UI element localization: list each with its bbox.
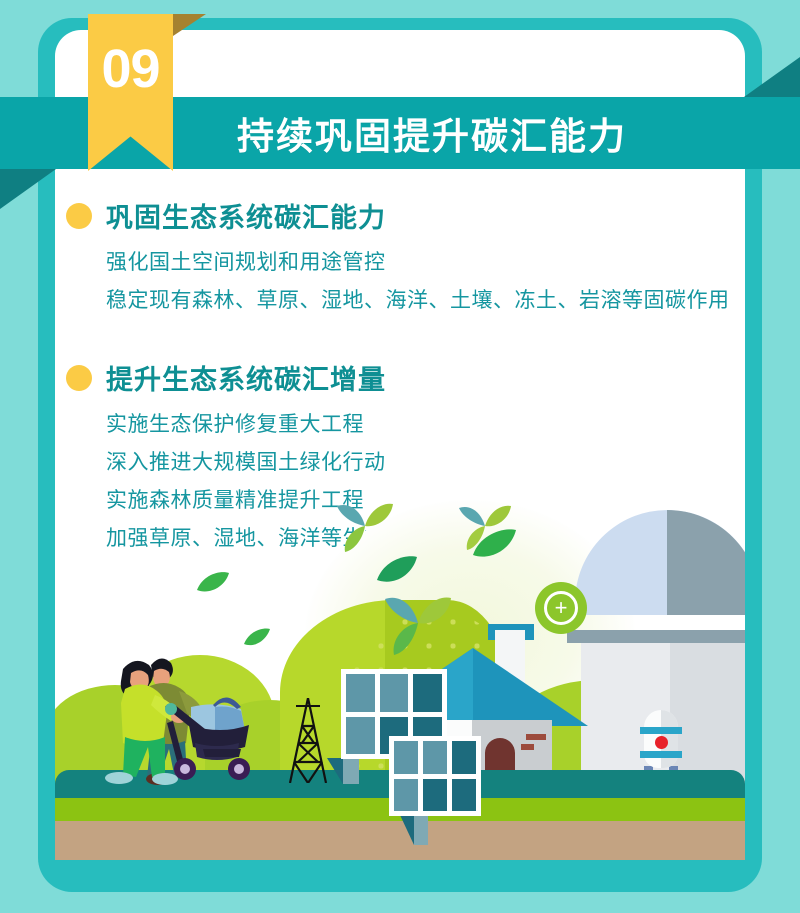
leaf-icon — [195, 570, 231, 596]
transmission-pylon-icon — [280, 698, 336, 783]
solar-cell — [346, 717, 375, 755]
solar-cell — [394, 779, 418, 812]
observatory-dome-shade — [667, 510, 745, 615]
solar-cell — [452, 741, 476, 774]
solar-cell — [380, 674, 409, 712]
solar-cell — [413, 674, 442, 712]
brick-detail — [521, 744, 534, 750]
pinwheel-leaf-icon — [333, 498, 399, 554]
eco-plus-badge: + — [535, 582, 587, 634]
solar-cell — [423, 741, 447, 774]
observatory-band — [567, 630, 745, 643]
section-1-heading-row: 巩固生态系统碳汇能力 — [66, 196, 730, 235]
solar-pole — [343, 758, 359, 784]
section-2-line-1: 实施生态保护修复重大工程 — [106, 406, 536, 444]
section-block-1: 巩固生态系统碳汇能力 强化国土空间规划和用途管控 稳定现有森林、草原、湿地、海洋… — [66, 196, 730, 320]
brick-detail — [526, 734, 546, 740]
section-1-heading: 巩固生态系统碳汇能力 — [106, 196, 386, 235]
solar-panel-small — [389, 736, 481, 816]
rocket-stripe — [640, 751, 682, 758]
solar-cell — [423, 779, 447, 812]
bullet-dot-icon — [66, 365, 92, 391]
section-1-line-1: 强化国土空间规划和用途管控 — [106, 244, 730, 282]
section-number: 09 — [88, 14, 173, 124]
section-1-lines: 强化国土空间规划和用途管控 稳定现有森林、草原、湿地、海洋、土壤、冻土、岩溶等固… — [106, 244, 730, 320]
solar-cell — [346, 674, 375, 712]
solar-cell — [452, 779, 476, 812]
bullet-dot-icon — [66, 203, 92, 229]
rocket-stripe — [640, 727, 682, 734]
plus-icon: + — [544, 591, 578, 625]
solar-cell — [394, 741, 418, 774]
eco-illustration: + — [55, 470, 745, 860]
section-1-line-2: 稳定现有森林、草原、湿地、海洋、土壤、冻土、岩溶等固碳作用 — [106, 282, 730, 320]
infographic-slide: 持续巩固提升碳汇能力 09 巩固生态系统碳汇能力 强化国土空间规划和用途管控 稳… — [0, 0, 800, 913]
leaf-icon — [375, 555, 419, 585]
rocket-light — [655, 736, 668, 749]
ground-soil — [55, 821, 745, 860]
solar-cell-grid — [394, 741, 476, 811]
walking-family — [93, 645, 268, 785]
section-2-heading: 提升生态系统碳汇增量 — [106, 358, 386, 397]
section-2-heading-row: 提升生态系统碳汇增量 — [66, 358, 536, 397]
pinwheel-leaf-icon — [455, 500, 517, 552]
solar-pole — [414, 815, 428, 845]
